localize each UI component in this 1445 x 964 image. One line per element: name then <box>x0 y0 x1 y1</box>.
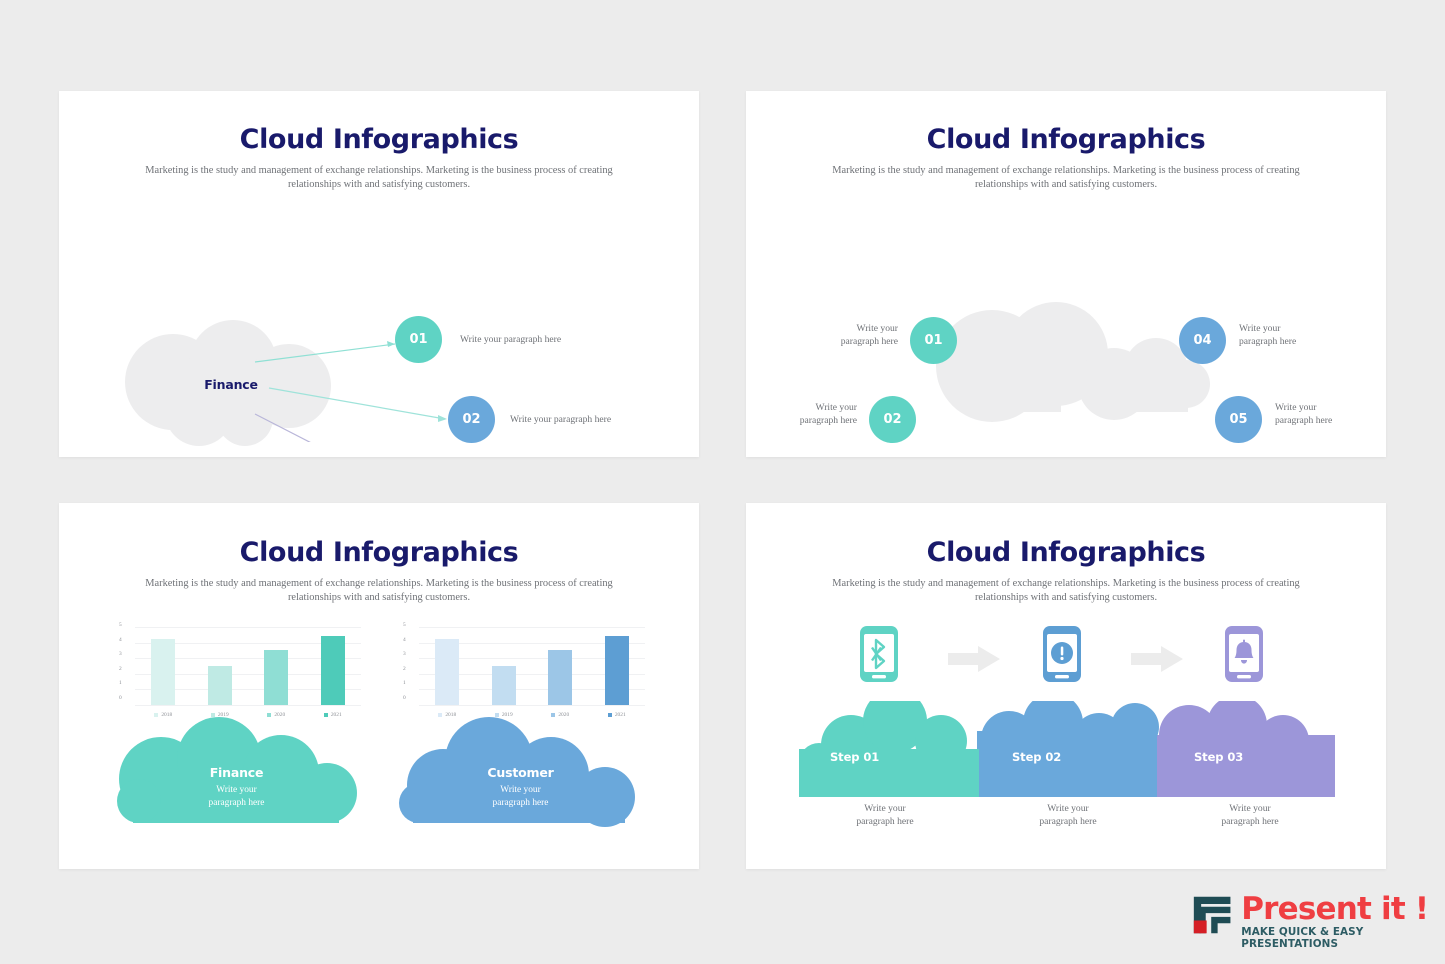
step-label-03: Step 03 <box>1194 750 1243 764</box>
node-circle-04[interactable]: 04 <box>1179 317 1226 364</box>
slide-4-stage: Step 01 Step 02 Step 03 Write your parag… <box>746 605 1386 860</box>
logo-wordmark: Present it ! <box>1241 893 1445 925</box>
node-number: 05 <box>1229 412 1247 427</box>
bar-2020 <box>264 650 288 705</box>
step-cloud-03 <box>1155 701 1335 797</box>
desc-line-2: paragraph here <box>1275 414 1332 427</box>
node-description-05: Write your paragraph here <box>1275 401 1332 427</box>
step-caption-03: Write your paragraph here <box>1190 802 1310 828</box>
y-tick-label: 1 <box>119 681 122 686</box>
logo-text: Present it ! MAKE QUICK & EASY PRESENTAT… <box>1241 893 1445 950</box>
caption-line-2: paragraph here <box>1190 815 1310 828</box>
node-number: 02 <box>462 412 480 427</box>
cloud-text-line-1: Write your <box>493 784 549 797</box>
bar-2019 <box>208 666 232 705</box>
gridline <box>419 705 645 706</box>
node-number: 02 <box>883 412 901 427</box>
bar-2019 <box>492 666 516 705</box>
arrow-right-icon <box>948 646 1000 672</box>
y-tick-label: 5 <box>403 623 406 628</box>
slide-deck: Cloud Infographics Marketing is the stud… <box>0 0 1445 964</box>
slide-cloud-branching[interactable]: Cloud Infographics Marketing is the stud… <box>59 91 699 457</box>
caption-line-2: paragraph here <box>1008 815 1128 828</box>
cloud-card-title: Customer <box>487 765 553 780</box>
desc-line-2: paragraph here <box>746 414 857 427</box>
node-circle-05[interactable]: 05 <box>1215 396 1262 443</box>
y-tick-label: 4 <box>119 638 122 643</box>
node-circle-02[interactable]: 02 <box>869 396 916 443</box>
cloud-shape-grey-pair <box>934 292 1224 442</box>
logo-tagline: MAKE QUICK & EASY PRESENTATIONS <box>1241 926 1445 950</box>
slide-2-stage: 01 02 03 04 05 06 Write your paragraph h… <box>746 192 1386 442</box>
cloud-center-label: Finance <box>121 320 341 448</box>
slide-subtitle: Marketing is the study and management of… <box>829 164 1303 192</box>
desc-line-1: Write your <box>746 401 857 414</box>
cloud-card-text: Write your paragraph here <box>493 784 549 809</box>
y-tick-label: 0 <box>403 696 406 701</box>
slide-subtitle: Marketing is the study and management of… <box>142 164 616 192</box>
bar-chart-finance: 543210 <box>135 627 361 705</box>
chart-bars <box>419 627 645 705</box>
caption-line-1: Write your <box>1008 802 1128 815</box>
desc-line-1: Write your <box>1239 322 1296 335</box>
bar-2021 <box>321 636 345 705</box>
desc-line-1: Write your <box>746 322 898 335</box>
step-cloud-01 <box>799 701 979 797</box>
y-tick-label: 5 <box>119 623 122 628</box>
node-circle-01[interactable]: 01 <box>910 317 957 364</box>
node-circle-01[interactable]: 01 <box>395 316 442 363</box>
step-label-01: Step 01 <box>830 750 879 764</box>
node-description-02: Write your paragraph here <box>746 401 857 427</box>
cloud-card-title: Finance <box>210 765 264 780</box>
y-tick-label: 1 <box>403 681 406 686</box>
caption-line-2: paragraph here <box>825 815 945 828</box>
page-title: Cloud Infographics <box>59 503 699 568</box>
bar-2018 <box>151 639 175 705</box>
cloud-text-line-2: paragraph here <box>209 797 265 810</box>
slide-cloud-bar-charts[interactable]: Cloud Infographics Marketing is the stud… <box>59 503 699 869</box>
node-description-01: Write your paragraph here <box>460 334 561 345</box>
y-tick-label: 2 <box>119 667 122 672</box>
step-caption-02: Write your paragraph here <box>1008 802 1128 828</box>
bluetooth-phone-icon <box>859 625 899 683</box>
slide-subtitle: Marketing is the study and management of… <box>142 577 616 605</box>
y-axis-tick-labels: 543210 <box>403 623 406 701</box>
caption-line-1: Write your <box>1190 802 1310 815</box>
slide-1-stage: Finance 01 02 03 Write your paragraph he… <box>59 192 699 442</box>
cloud-card-content: Finance Write your paragraph here <box>115 717 358 827</box>
y-tick-label: 3 <box>119 652 122 657</box>
desc-line-1: Write your <box>1275 401 1332 414</box>
y-tick-label: 3 <box>403 652 406 657</box>
bell-phone-icon <box>1224 625 1264 683</box>
y-tick-label: 2 <box>403 667 406 672</box>
node-description-04: Write your paragraph here <box>1239 322 1296 348</box>
y-axis-tick-labels: 543210 <box>119 623 122 701</box>
bar-2020 <box>548 650 572 705</box>
chart-bars <box>135 627 361 705</box>
step-caption-01: Write your paragraph here <box>825 802 945 828</box>
cloud-card-finance[interactable]: Finance Write your paragraph here <box>115 717 358 834</box>
step-label-02: Step 02 <box>1012 750 1061 764</box>
cloud-card-content: Customer Write your paragraph here <box>399 717 642 827</box>
slide-3-stage: 543210 2018201920202021 543210 201820192… <box>59 605 699 860</box>
node-description-02: Write your paragraph here <box>510 414 611 425</box>
cloud-card-text: Write your paragraph here <box>209 784 265 809</box>
caption-line-1: Write your <box>825 802 945 815</box>
slide-cloud-steps[interactable]: Cloud Infographics Marketing is the stud… <box>746 503 1386 869</box>
cloud-text-line-1: Write your <box>209 784 265 797</box>
slide-cloud-six-points[interactable]: Cloud Infographics Marketing is the stud… <box>746 91 1386 457</box>
bar-chart-customer: 543210 <box>419 627 645 705</box>
node-circle-02[interactable]: 02 <box>448 396 495 443</box>
slide-subtitle: Marketing is the study and management of… <box>829 577 1303 605</box>
page-title: Cloud Infographics <box>59 91 699 155</box>
page-title: Cloud Infographics <box>746 503 1386 568</box>
bar-2021 <box>605 636 629 705</box>
cloud-card-customer[interactable]: Customer Write your paragraph here <box>399 717 642 834</box>
bar-2018 <box>435 639 459 705</box>
arrow-right-icon <box>1131 646 1183 672</box>
node-number: 01 <box>924 333 942 348</box>
node-number: 04 <box>1193 333 1211 348</box>
node-number: 01 <box>409 332 427 347</box>
chart-panel-customer: 543210 2018201920202021 <box>397 627 657 718</box>
step-clouds <box>799 701 1335 797</box>
desc-line-2: paragraph here <box>746 335 898 348</box>
step-cloud-02 <box>977 701 1159 797</box>
node-description-01: Write your paragraph here <box>746 322 898 348</box>
y-tick-label: 0 <box>119 696 122 701</box>
nested-brackets-logo-icon <box>1192 893 1232 937</box>
cloud-text-line-2: paragraph here <box>493 797 549 810</box>
present-it-logo[interactable]: Present it ! MAKE QUICK & EASY PRESENTAT… <box>1192 893 1445 950</box>
alert-phone-icon <box>1042 625 1082 683</box>
chart-panel-finance: 543210 2018201920202021 <box>113 627 373 718</box>
y-tick-label: 4 <box>403 638 406 643</box>
gridline <box>135 705 361 706</box>
desc-line-2: paragraph here <box>1239 335 1296 348</box>
page-title: Cloud Infographics <box>746 91 1386 155</box>
